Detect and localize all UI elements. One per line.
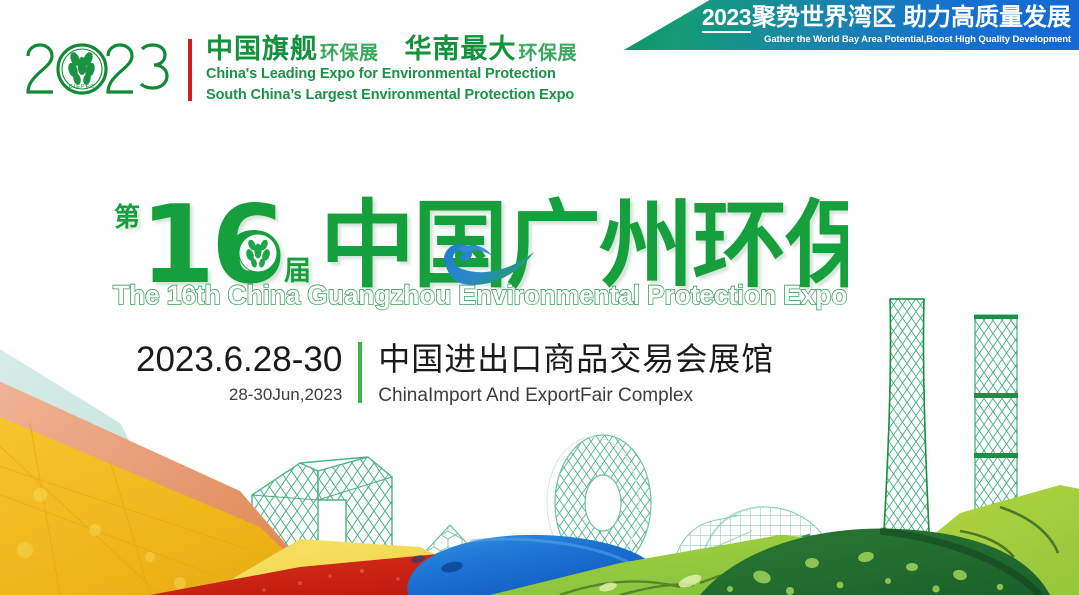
claim-cn-2-small: 环保展 [519,44,578,63]
banner-year: 2023 [702,5,751,32]
claim-en-line1: China's Leading Expo for Environmental P… [206,66,577,84]
claim-cn-1-small: 环保展 [320,44,379,63]
bottom-illustration [0,295,1079,595]
top-slogan-banner: 2023 聚势世界湾区 助力高质量发展 Gather the World Bay… [619,0,1079,50]
svg-text:CIEPEC: CIEPEC [69,84,95,90]
claim-en-line2: South China’s Largest Environmental Prot… [206,87,577,105]
banner-slogan-cn-part2: 助力高质量发展 [903,5,1071,30]
claim-cn-2-big: 华南最大 [405,36,517,63]
banner-slogan-cn-part1: 聚势世界湾区 [752,5,896,30]
title-leaf-emblem [239,234,277,272]
ciepec-leaf-emblem: CIEPEC [58,45,106,93]
header-logo-row: CIEPEC 中国旗舰 环保展 华南最大 环保展 China's Leading… [22,36,577,104]
logo-divider [188,39,192,101]
claim-cn-1-big: 中国旗舰 [206,36,318,63]
expo-poster: 2023 聚势世界湾区 助力高质量发展 Gather the World Bay… [0,0,1079,595]
header-claims: 中国旗舰 环保展 华南最大 环保展 China's Leading Expo f… [206,36,577,104]
banner-slogan-en: Gather the World Bay Area Potential,Boos… [764,34,1071,45]
title-prefix: 第 [114,202,140,233]
logo-2023: CIEPEC [22,39,180,101]
